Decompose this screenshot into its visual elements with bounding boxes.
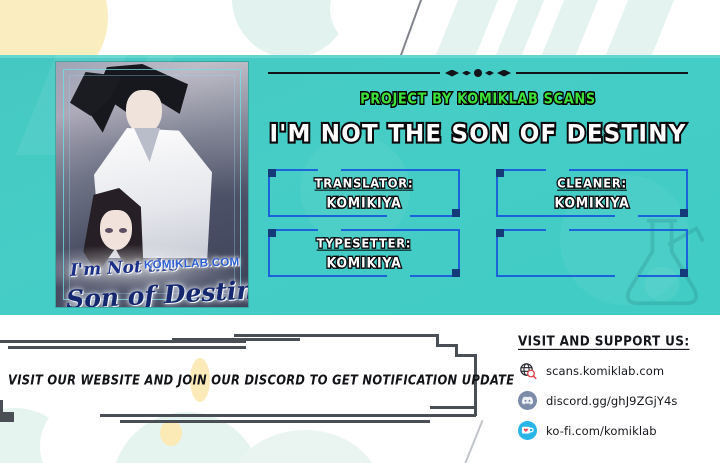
divider-rule-right xyxy=(516,72,688,74)
support-section: VISIT AND SUPPORT US: scans.komiklab.com xyxy=(518,332,708,440)
box-corner-notch xyxy=(680,209,688,217)
credit-box-empty xyxy=(496,229,688,277)
credit-role-label: TYPESETTER: xyxy=(317,235,412,250)
ko-fi-icon xyxy=(518,421,537,440)
credit-person-name: KOMIKIYA xyxy=(326,194,401,211)
box-edge xyxy=(341,169,460,171)
dot-icon xyxy=(474,69,482,77)
credit-box-typesetter: TYPESETTER: KOMIKIYA xyxy=(268,229,460,277)
box-corner-notch xyxy=(496,229,504,237)
support-link-website[interactable]: scans.komiklab.com xyxy=(518,361,708,380)
banner-line xyxy=(305,334,439,337)
box-edge xyxy=(268,215,387,217)
diamond-icon-3 xyxy=(485,71,494,76)
box-edge xyxy=(341,229,460,231)
decor-mint-blob-a xyxy=(232,0,350,58)
support-link-label: scans.komiklab.com xyxy=(546,364,664,378)
banner-line xyxy=(430,406,476,409)
series-cover-card[interactable]: I'm Not the Son of Destiny KOMIKLAB.COM xyxy=(56,62,248,307)
credits-grid: TRANSLATOR: KOMIKIYA CLEANER: KOMIKIYA xyxy=(268,169,688,277)
box-edge xyxy=(496,275,615,277)
box-corner-notch xyxy=(452,269,460,277)
series-title: I'M NOT THE SON OF DESTINY xyxy=(268,120,688,147)
divider-ornament xyxy=(268,66,688,80)
box-corner-notch xyxy=(496,169,504,177)
banner-line xyxy=(120,420,430,423)
support-link-label: ko-fi.com/komiklab xyxy=(546,424,657,438)
diamond-icon-1 xyxy=(445,70,459,77)
support-link-discord[interactable]: discord.gg/ghJ9ZGjY4s xyxy=(518,391,708,410)
banner-line xyxy=(172,338,300,341)
credit-person-name: KOMIKIYA xyxy=(554,194,629,211)
globe-search-icon xyxy=(518,361,537,380)
credit-person-name: KOMIKIYA xyxy=(326,254,401,271)
box-edge xyxy=(496,215,615,217)
banner-line xyxy=(100,414,476,417)
divider-diamonds xyxy=(445,69,511,77)
divider-rule-left xyxy=(268,72,440,74)
project-credit-line: PROJECT BY KOMIKLAB SCANS xyxy=(268,91,688,108)
box-corner-notch xyxy=(268,229,276,237)
box-corner-notch xyxy=(452,209,460,217)
credits-content: PROJECT BY KOMIKLAB SCANS I'M NOT THE SO… xyxy=(268,62,688,302)
credits-page: I'm Not the Son of Destiny KOMIKLAB.COM … xyxy=(0,0,720,463)
banner-line xyxy=(234,334,306,337)
notification-banner: VISIT OUR WEBSITE AND JOIN OUR DISCORD T… xyxy=(0,326,500,436)
credit-box-translator: TRANSLATOR: KOMIKIYA xyxy=(268,169,460,217)
decor-white-blob xyxy=(330,0,408,48)
credit-role-label: CLEANER: xyxy=(557,175,627,190)
support-link-kofi[interactable]: ko-fi.com/komiklab xyxy=(518,421,708,440)
box-edge xyxy=(569,229,688,231)
box-corner-notch xyxy=(268,169,276,177)
support-link-label: discord.gg/ghJ9ZGjY4s xyxy=(546,394,678,408)
credit-box-cleaner: CLEANER: KOMIKIYA xyxy=(496,169,688,217)
banner-text: VISIT OUR WEBSITE AND JOIN OUR DISCORD T… xyxy=(8,372,448,388)
box-edge xyxy=(569,169,688,171)
diamond-icon-2 xyxy=(462,71,471,76)
banner-line xyxy=(0,400,3,416)
box-corner-notch xyxy=(680,269,688,277)
discord-icon xyxy=(518,391,537,410)
credit-role-label: TRANSLATOR: xyxy=(315,175,414,190)
banner-line xyxy=(8,346,246,349)
diamond-icon-4 xyxy=(497,70,511,77)
box-edge xyxy=(268,275,387,277)
support-section-title: VISIT AND SUPPORT US: xyxy=(518,333,690,349)
